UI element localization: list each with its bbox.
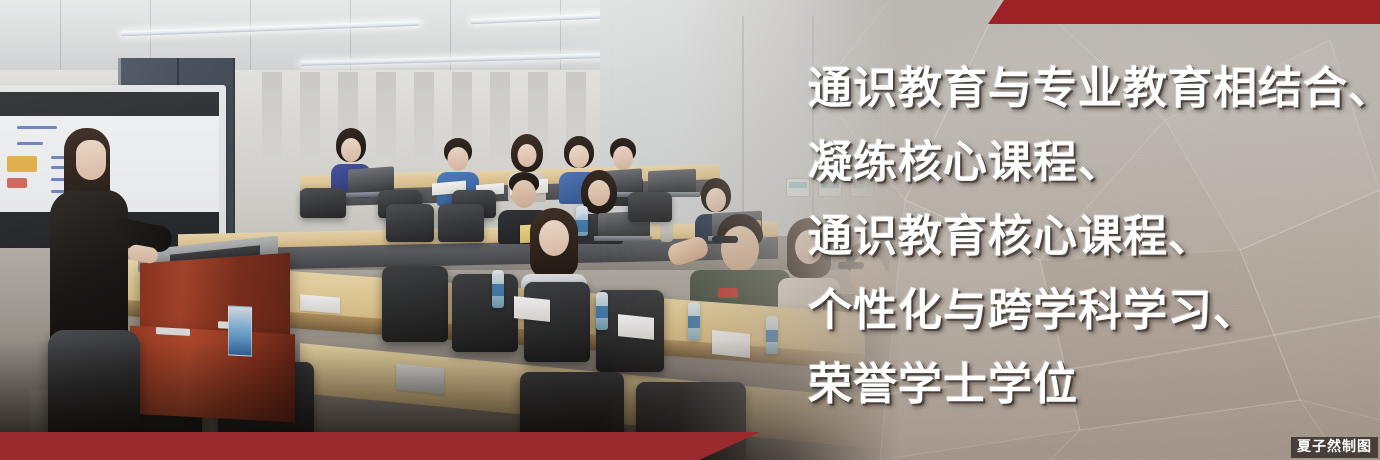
chair	[386, 204, 434, 242]
name-card	[712, 330, 750, 358]
chair	[452, 274, 518, 352]
chair	[382, 266, 448, 342]
bottom-accent-band	[0, 432, 760, 460]
headline-line-5: 荣誉学士学位	[808, 348, 1380, 422]
water-bottle	[492, 270, 504, 308]
headline-line-3: 通识教育核心课程、	[808, 200, 1380, 274]
water-bottle	[596, 292, 608, 330]
name-card	[514, 296, 550, 322]
headline-line-4: 个性化与跨学科学习、	[808, 274, 1380, 348]
banner-image: 通识教育与专业教育相结合、 凝练核心课程、 通识教育核心课程、 个性化与跨学科学…	[0, 0, 1380, 460]
headline-line-1: 通识教育与专业教育相结合、	[808, 52, 1380, 126]
name-card	[300, 294, 340, 313]
name-card	[618, 314, 654, 340]
chair	[438, 204, 484, 242]
lanyard-tag	[718, 288, 738, 298]
top-accent-band	[980, 0, 1380, 24]
chair	[300, 188, 346, 218]
podium-shelf	[130, 326, 295, 423]
podium-package	[228, 305, 252, 356]
chair	[524, 282, 590, 362]
presenter-face	[76, 140, 106, 180]
wall-switch	[786, 178, 810, 197]
water-bottle	[766, 316, 778, 354]
chair	[628, 192, 672, 222]
watermark-credit: 夏子然制图	[1291, 437, 1378, 458]
classroom-photo	[0, 0, 900, 460]
presenter-chair	[48, 330, 140, 440]
name-card	[396, 363, 444, 394]
eyeglasses	[712, 236, 738, 243]
cup	[660, 222, 673, 242]
headline-block: 通识教育与专业教育相结合、 凝练核心课程、 通识教育核心课程、 个性化与跨学科学…	[808, 52, 1380, 422]
headline-line-2: 凝练核心课程、	[808, 126, 1380, 200]
water-bottle	[688, 302, 700, 340]
